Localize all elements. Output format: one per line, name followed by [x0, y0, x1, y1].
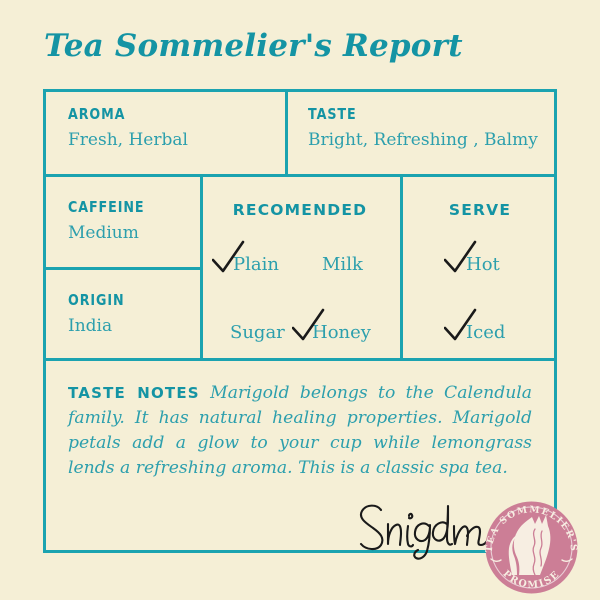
option-sugar[interactable]: Sugar	[230, 322, 285, 343]
option-milk[interactable]: Milk	[322, 254, 363, 275]
field-aroma-label: AROMA	[68, 105, 166, 123]
field-taste: TASTE Bright, Refreshing , Balmy	[308, 105, 538, 150]
field-caffeine-value: Medium	[68, 223, 161, 243]
option-plain[interactable]: Plain	[233, 254, 279, 275]
signature	[350, 500, 490, 562]
divider-row-one	[43, 174, 557, 177]
seal-stamp: TEA SOMMELIER'S PROMISE	[479, 495, 584, 600]
field-aroma: AROMA Fresh, Herbal	[68, 105, 188, 150]
recomended-heading: RECOMENDED	[203, 201, 397, 219]
field-caffeine-label: CAFFEINE	[68, 198, 144, 216]
field-caffeine: CAFFEINE Medium	[68, 198, 161, 243]
field-origin-value: India	[68, 316, 137, 336]
divider-caffeine-origin	[43, 267, 200, 270]
taste-notes-heading: TASTE NOTES	[68, 384, 200, 402]
taste-notes: TASTE NOTES Marigold belongs to the Cale…	[68, 381, 532, 481]
field-origin-label: ORIGIN	[68, 291, 125, 309]
divider-aroma-taste	[285, 89, 288, 177]
field-aroma-value: Fresh, Herbal	[68, 130, 188, 150]
option-iced[interactable]: Iced	[466, 322, 505, 343]
tea-sommelier-report-card: Tea Sommelier's Report AROMA Fresh, Herb…	[0, 0, 600, 600]
field-origin: ORIGIN India	[68, 291, 137, 336]
option-honey[interactable]: Honey	[312, 322, 371, 343]
serve-heading: SERVE	[403, 201, 557, 219]
field-taste-value: Bright, Refreshing , Balmy	[308, 130, 538, 150]
page-title: Tea Sommelier's Report	[44, 28, 463, 64]
field-taste-label: TASTE	[308, 105, 496, 123]
option-hot[interactable]: Hot	[466, 254, 500, 275]
